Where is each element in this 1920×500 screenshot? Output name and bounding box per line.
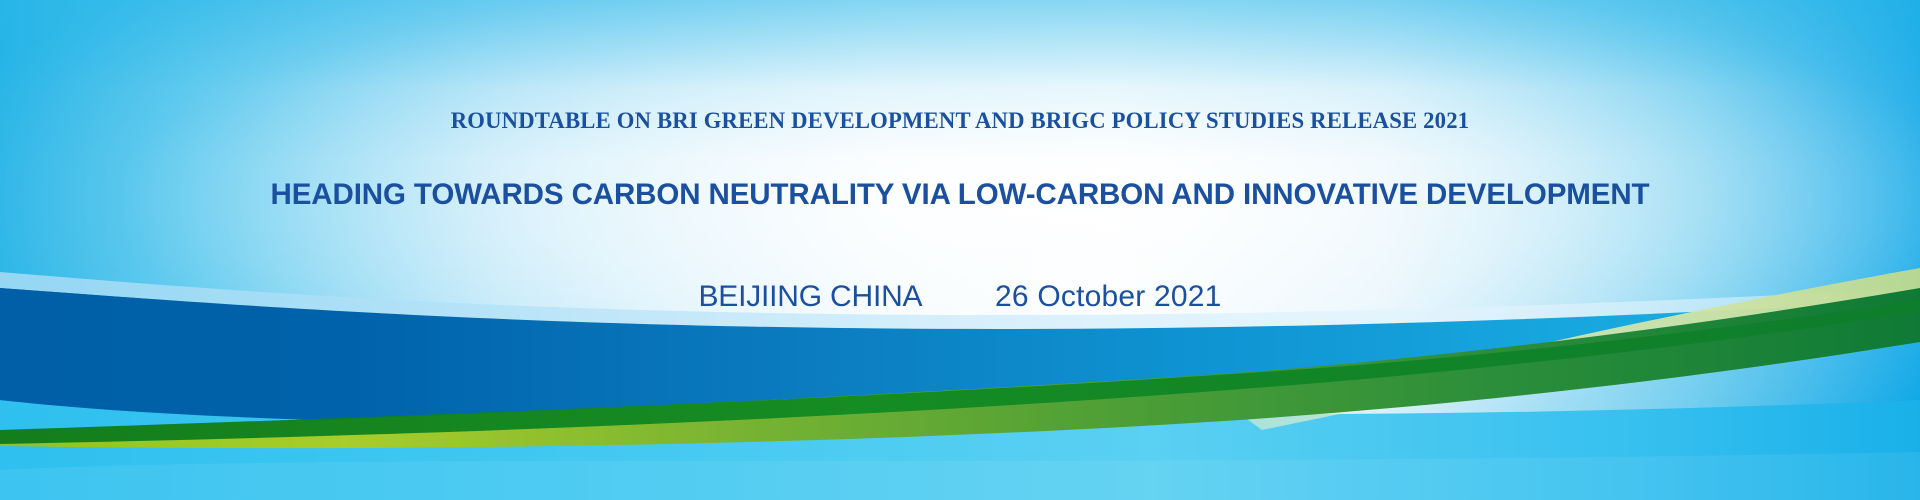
venue-and-date-line: BEIJIING CHINA 26 October 2021 bbox=[0, 280, 1920, 314]
venue-city: BEIJIING CHINA bbox=[698, 280, 922, 313]
theme-title: HEADING TOWARDS CARBON NEUTRALITY VIA LO… bbox=[0, 178, 1920, 212]
banner-text-layer: ROUNDTABLE ON BRI GREEN DEVELOPMENT AND … bbox=[0, 0, 1920, 500]
event-title: ROUNDTABLE ON BRI GREEN DEVELOPMENT AND … bbox=[14, 108, 1905, 134]
event-date: 26 October 2021 bbox=[995, 280, 1222, 313]
conference-banner: ROUNDTABLE ON BRI GREEN DEVELOPMENT AND … bbox=[0, 0, 1920, 500]
